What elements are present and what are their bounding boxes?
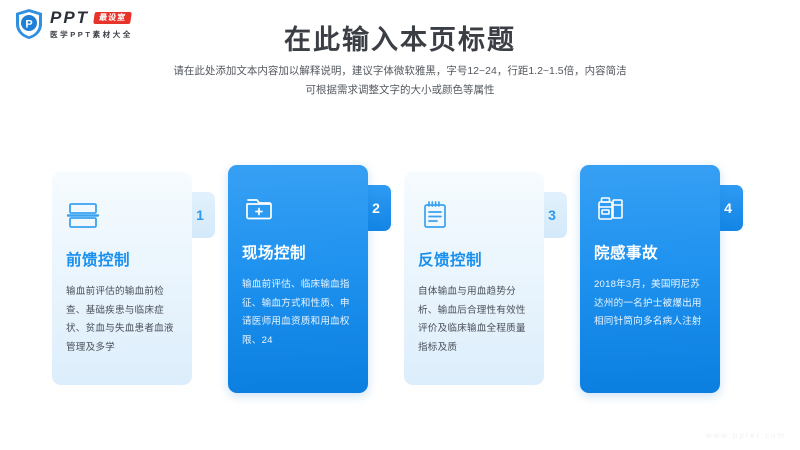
card-number-4: 4 <box>724 200 732 216</box>
card-body-3: 自体输血与用血趋势分析、输血后合理性有效性评价及临床输血全程质量指标及质 <box>418 283 530 358</box>
layout-split-icon <box>66 198 100 232</box>
card-wrap-1: 1 前馈控制 输血前评估的输血前检查、基础疾患与临床症状、贫血与失血患者血液管理… <box>52 160 207 395</box>
card-number-3: 3 <box>548 207 556 223</box>
card-title-4: 院感事故 <box>594 241 706 263</box>
card-title-2: 现场控制 <box>242 241 354 263</box>
card-body-1: 输血前评估的输血前检查、基础疾患与临床症状、贫血与失血患者血液管理及多学 <box>66 283 178 358</box>
subtitle-line-2: 可根据需求调整文字的大小或颜色等属性 <box>100 81 700 100</box>
folder-add-icon <box>242 191 276 225</box>
card-4[interactable]: 院感事故 2018年3月，美国明尼苏达州的一名护士被爆出用相同针筒向多名病人注射 <box>580 165 720 393</box>
card-wrap-2: 2 现场控制 输血前评估、临床输血指征、输血方式和性质、申请医师用血资质和用血权… <box>228 160 383 395</box>
card-title-3: 反馈控制 <box>418 248 530 270</box>
card-3[interactable]: 反馈控制 自体输血与用血趋势分析、输血后合理性有效性评价及临床输血全程质量指标及… <box>404 172 544 385</box>
slide-canvas: P PPT 最设室 医学PPT素材大全 在此输入本页标题 请在此处添加文本内容加… <box>0 0 800 450</box>
card-2[interactable]: 现场控制 输血前评估、临床输血指征、输血方式和性质、申请医师用血资质和用血权限、… <box>228 165 368 393</box>
page-subtitle: 请在此处添加文本内容加以解释说明，建议字体微软雅黑，字号12~24，行距1.2~… <box>100 62 700 101</box>
medicine-bottle-icon <box>594 191 628 225</box>
clipboard-notes-icon <box>418 198 452 232</box>
card-wrap-3: 3 反馈控制 自体输血与用血趋势分析、输血后合理性有 <box>404 160 559 395</box>
card-number-2: 2 <box>372 200 380 216</box>
card-wrap-4: 4 院感事故 2018年3月，美国明尼苏达州的一名护士被爆出用相同针筒向多名病人… <box>580 160 735 395</box>
watermark: www.ppter.com <box>706 431 786 440</box>
card-number-1: 1 <box>196 207 204 223</box>
subtitle-line-1: 请在此处添加文本内容加以解释说明，建议字体微软雅黑，字号12~24，行距1.2~… <box>173 65 626 77</box>
page-title: 在此输入本页标题 <box>0 18 800 57</box>
card-body-2: 输血前评估、临床输血指征、输血方式和性质、申请医师用血资质和用血权限、24 <box>242 276 354 351</box>
card-1[interactable]: 前馈控制 输血前评估的输血前检查、基础疾患与临床症状、贫血与失血患者血液管理及多… <box>52 172 192 385</box>
card-row: 1 前馈控制 输血前评估的输血前检查、基础疾患与临床症状、贫血与失血患者血液管理… <box>52 160 752 400</box>
card-body-4: 2018年3月，美国明尼苏达州的一名护士被爆出用相同针筒向多名病人注射 <box>594 276 706 332</box>
card-title-1: 前馈控制 <box>66 248 178 270</box>
